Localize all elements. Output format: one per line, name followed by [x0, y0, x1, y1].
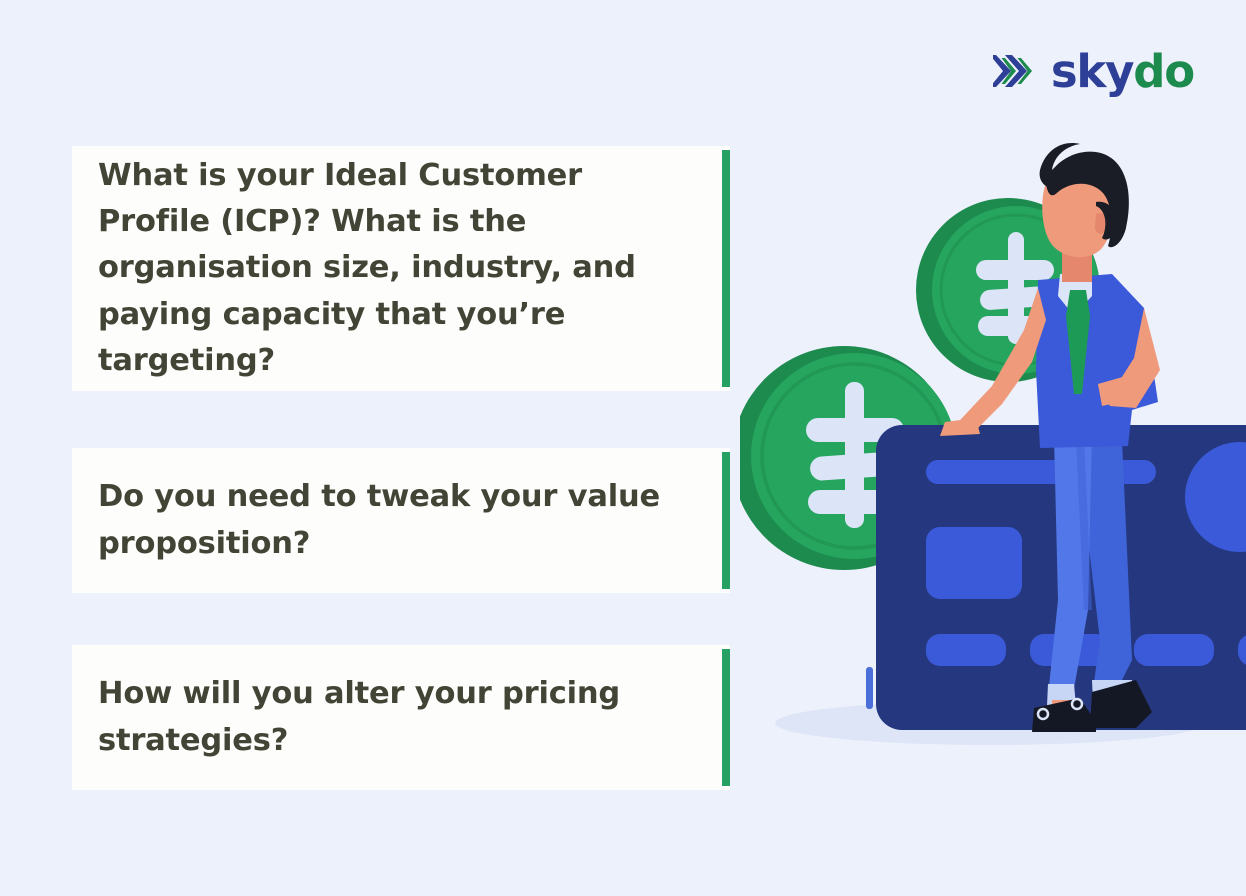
logo-word-sky: sky: [1051, 45, 1133, 98]
card-accent-bar: [722, 649, 730, 786]
card-chip: [926, 527, 1022, 599]
skydo-logo[interactable]: skydo: [993, 44, 1194, 98]
skydo-wordmark: skydo: [1051, 49, 1194, 94]
question-card-list: What is your Ideal Customer Profile (ICP…: [72, 146, 730, 790]
question-card-icp: What is your Ideal Customer Profile (ICP…: [72, 146, 730, 391]
businessman-with-coins-and-credit-card-illustration: [740, 140, 1246, 780]
card-accent-bar: [722, 150, 730, 387]
poster-canvas: skydo What is your Ideal Customer Profil…: [0, 0, 1246, 896]
question-text: How will you alter your pricing strategi…: [98, 671, 686, 764]
card-number-block: [1134, 634, 1214, 666]
logo-word-do: do: [1133, 45, 1194, 98]
card-number-block: [926, 634, 1006, 666]
double-chevron-icon: [993, 51, 1039, 91]
question-card-value-proposition: Do you need to tweak your value proposit…: [72, 448, 730, 593]
question-text: Do you need to tweak your value proposit…: [98, 474, 686, 567]
question-card-pricing-strategy: How will you alter your pricing strategi…: [72, 645, 730, 790]
question-text: What is your Ideal Customer Profile (ICP…: [98, 153, 686, 385]
card-accent-bar: [722, 452, 730, 589]
back-card-edge: [866, 667, 873, 709]
